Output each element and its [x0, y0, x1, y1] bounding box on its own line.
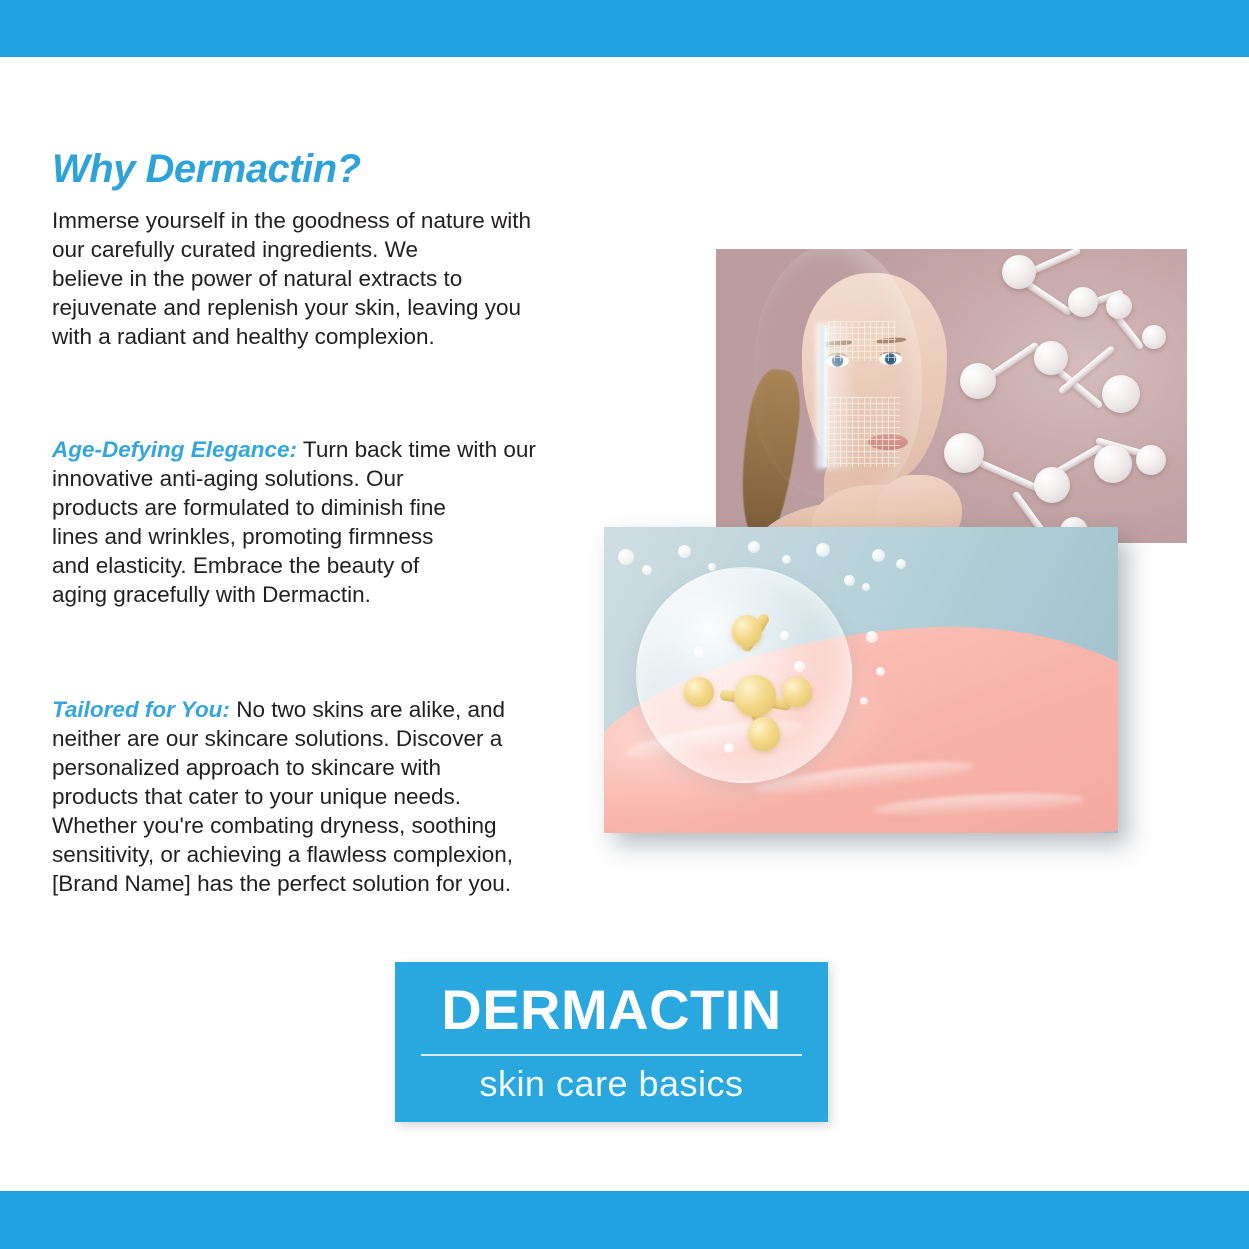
- paragraph-age-defying: Age-Defying Elegance: Turn back time wit…: [52, 435, 612, 609]
- molecule-atom: [960, 363, 996, 399]
- droplet: [844, 575, 855, 586]
- molecule-atom: [1034, 467, 1070, 503]
- molecule-atom: [1068, 287, 1098, 317]
- droplet: [876, 667, 885, 676]
- serum-bubble-cream-photo: [604, 527, 1118, 833]
- paragraph-age-defying-body: Turn back time with our innovative anti-…: [52, 437, 536, 607]
- woman-facial-scan-molecule-photo: [716, 249, 1187, 543]
- droplet: [708, 563, 716, 571]
- droplet: [862, 583, 870, 591]
- logo-tagline: skin care basics: [395, 1062, 828, 1105]
- logo-wordmark: DERMACTIN: [395, 982, 828, 1038]
- droplet: [896, 559, 906, 569]
- droplet: [724, 743, 734, 753]
- scan-light-bar: [819, 327, 828, 467]
- facial-scan-grid-lower: [828, 397, 900, 467]
- droplet: [780, 631, 789, 640]
- paragraph-age-defying-lead: Age-Defying Elegance:: [52, 437, 297, 462]
- paragraph-intro-body: Immerse yourself in the goodness of natu…: [52, 208, 531, 349]
- top-brand-bar: [0, 0, 1249, 57]
- molecule-atom: [1034, 341, 1068, 375]
- molecule-atom: [1136, 445, 1166, 475]
- serum-molecule-atom: [684, 677, 714, 707]
- transparent-serum-bubble: [636, 567, 852, 783]
- facial-scan-grid-upper: [828, 321, 896, 361]
- droplet: [618, 549, 634, 565]
- serum-molecule-atom: [732, 615, 762, 647]
- droplet: [866, 631, 878, 643]
- bottom-brand-bar: [0, 1191, 1249, 1249]
- page-title: Why Dermactin?: [52, 148, 612, 190]
- logo-divider: [421, 1054, 802, 1056]
- droplet: [782, 555, 791, 564]
- droplet: [794, 661, 805, 672]
- molecule-atom: [1094, 445, 1132, 483]
- serum-molecule-atom: [748, 717, 780, 751]
- droplet: [678, 545, 691, 558]
- droplet: [860, 697, 868, 705]
- paragraph-intro: Immerse yourself in the goodness of natu…: [52, 206, 612, 351]
- paragraph-tailored-body: No two skins are alike, and neither are …: [52, 697, 513, 896]
- droplet: [642, 565, 652, 575]
- dermactin-logo: DERMACTIN skin care basics: [395, 962, 828, 1122]
- copy-column: Why Dermactin? Immerse yourself in the g…: [52, 148, 612, 898]
- serum-molecule-atom: [734, 675, 776, 717]
- molecule-atom: [944, 433, 984, 473]
- molecule-atom: [1102, 375, 1140, 413]
- paragraph-tailored-lead: Tailored for You:: [52, 697, 230, 722]
- paragraph-tailored: Tailored for You: No two skins are alike…: [52, 695, 612, 898]
- molecule-atom: [1106, 293, 1132, 319]
- molecule-atom: [1142, 325, 1166, 349]
- droplet: [872, 549, 885, 562]
- brochure-page: Why Dermactin? Immerse yourself in the g…: [0, 0, 1249, 1249]
- droplet: [748, 541, 760, 553]
- droplet: [816, 543, 830, 557]
- serum-molecule-atom: [782, 677, 812, 707]
- droplet: [694, 647, 704, 657]
- molecule-atom: [1002, 255, 1036, 289]
